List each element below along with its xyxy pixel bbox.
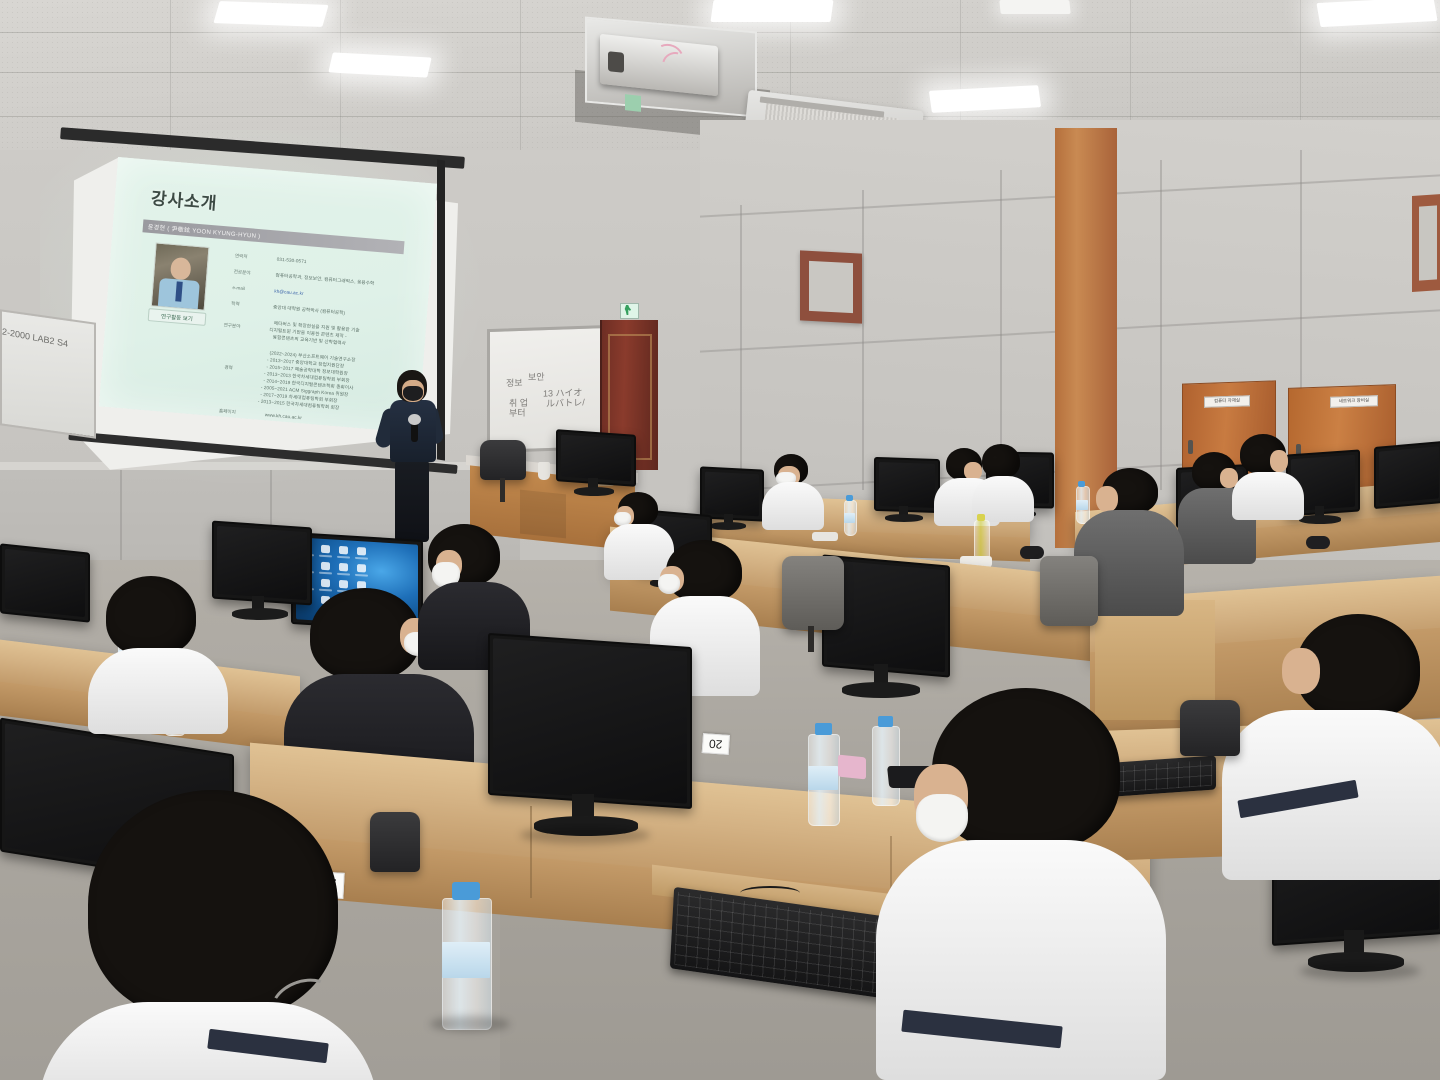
bottle-label xyxy=(442,942,490,978)
microphone-head-icon xyxy=(408,414,421,425)
student-shirt xyxy=(88,648,228,734)
desktop-icon[interactable] xyxy=(321,579,330,588)
teacher-monitor-base xyxy=(574,487,614,496)
slide-value-email: kh@cau.ac.kr xyxy=(274,289,304,297)
chair-leg xyxy=(500,478,505,502)
ceiling-light xyxy=(710,0,833,22)
desktop-icon[interactable] xyxy=(321,545,330,554)
monitor xyxy=(0,543,90,622)
slide-value-degree: 중앙대 대학원 공학박사 (컴퓨터공학) xyxy=(273,304,346,316)
wall-seam xyxy=(740,205,742,495)
face-mask xyxy=(916,794,968,842)
slide-value-homepage: www.kh.cau.ac.kr xyxy=(265,412,303,421)
monitor xyxy=(874,457,940,513)
bottle-cap xyxy=(846,495,853,501)
ceiling-light xyxy=(213,1,328,27)
monitor-base xyxy=(842,682,920,698)
mouse[interactable] xyxy=(1020,546,1044,559)
shadow xyxy=(1300,962,1420,980)
slide-label-career: 경력 xyxy=(224,365,233,372)
teacher-console-door xyxy=(520,490,566,539)
storage-door-1-handle[interactable] xyxy=(1188,440,1193,454)
slide-label-phone: 연락처 xyxy=(235,253,248,260)
pink-eraser xyxy=(838,755,866,780)
presenter-face-mask xyxy=(403,386,423,401)
slide-label-degree: 학력 xyxy=(231,301,240,308)
shadow xyxy=(430,1016,510,1032)
wall-seam xyxy=(1160,160,1162,490)
monitor-base xyxy=(710,522,746,530)
chair-leg xyxy=(808,626,814,652)
paper-cup xyxy=(538,462,550,480)
chair[interactable] xyxy=(782,556,844,630)
desk-number-label: 20 xyxy=(701,733,730,755)
water-bottle xyxy=(1076,486,1088,522)
presenter xyxy=(385,370,445,545)
bottle-label xyxy=(808,766,838,790)
desktop-icon[interactable] xyxy=(339,580,348,589)
student-face xyxy=(1270,450,1288,472)
wall-plaque-inner xyxy=(809,261,853,313)
slide-label-field: 전공분야 xyxy=(233,269,250,276)
bottle-cap xyxy=(452,882,480,900)
slide-instructor-photo xyxy=(151,242,210,310)
slide-research-badge: 연구활동 보기 xyxy=(148,308,207,326)
mouse[interactable] xyxy=(1306,536,1330,549)
presenter-legs xyxy=(395,460,429,542)
chair[interactable] xyxy=(480,440,526,480)
classroom-photo: 강사소개 윤경현 ( 尹敬鉉 YOON KYUNG-HYUN ) 연구활동 보기… xyxy=(0,0,1440,1080)
monitor xyxy=(1374,441,1440,509)
monitor-base xyxy=(232,608,288,620)
water-bottle xyxy=(808,734,838,824)
wall-seam xyxy=(862,190,864,490)
exit-sign xyxy=(620,303,639,319)
slide-title: 강사소개 xyxy=(150,184,218,214)
storage-door-2-label: 네트워크 장비실 xyxy=(1330,395,1378,408)
ceiling-light xyxy=(999,0,1070,14)
projector-lens-icon xyxy=(608,51,624,73)
bottle-label xyxy=(844,513,855,523)
water-bottle xyxy=(442,898,490,1028)
storage-door-1-label: 컴퓨터 자재실 xyxy=(1204,395,1250,408)
shadow xyxy=(520,826,650,844)
slide-label-homepage: 홈페이지 xyxy=(219,408,236,415)
student-face xyxy=(1282,648,1320,694)
bottle-cap xyxy=(878,716,893,727)
whiteboard-scribble: 부터 xyxy=(509,408,526,419)
student-hair xyxy=(106,576,196,656)
wall-plaque-right-inner xyxy=(1419,205,1437,280)
slide-value-field: 컴퓨터공학과, 정보보안, 컴퓨터그래픽스, 응용수학 xyxy=(275,273,374,287)
monitor xyxy=(212,521,312,606)
slide-label-research: 연구분야 xyxy=(223,322,240,329)
student-hair xyxy=(982,444,1020,478)
paper-napkin xyxy=(812,532,838,541)
chair[interactable] xyxy=(1180,700,1240,756)
desktop-icon[interactable] xyxy=(339,546,348,555)
bottle-cap xyxy=(977,514,985,521)
keyboard-cable xyxy=(740,886,800,900)
whiteboard-scribble: 정보 xyxy=(506,378,523,389)
whiteboard-scribble: 보안 xyxy=(528,372,545,383)
monitor-neck xyxy=(874,664,888,684)
photo-face xyxy=(170,257,192,281)
slide-instructor-name: 윤경현 ( 尹敬鉉 YOON KYUNG-HYUN ) xyxy=(148,222,261,240)
slide-research-badge-label: 연구활동 보기 xyxy=(161,312,193,323)
teacher-monitor-screen xyxy=(561,435,631,482)
monitor-base xyxy=(885,514,923,522)
chair[interactable] xyxy=(370,812,420,872)
student-shirt xyxy=(762,482,824,530)
chair[interactable] xyxy=(1040,556,1098,626)
desktop-icon[interactable] xyxy=(321,562,330,571)
slide-label-email: e-mail xyxy=(232,285,245,291)
bottle-cap xyxy=(1078,481,1085,487)
face-mask xyxy=(658,574,680,594)
desk-seam xyxy=(530,806,532,898)
bottle-label xyxy=(1076,500,1088,510)
desktop-icon[interactable] xyxy=(357,564,366,573)
desktop-icon[interactable] xyxy=(339,563,348,572)
whiteboard-scribble: ルバトレ/ xyxy=(546,397,585,408)
bottle-cap xyxy=(815,723,832,735)
monitor xyxy=(488,633,692,809)
desktop-icon[interactable] xyxy=(357,547,366,556)
student-shirt xyxy=(1232,472,1304,520)
monitor-base xyxy=(1299,515,1341,524)
water-bottle xyxy=(844,500,855,534)
slide-value-phone: 031-530-0571 xyxy=(277,257,307,265)
student-face xyxy=(1096,486,1118,512)
ceiling-tag xyxy=(625,94,641,112)
